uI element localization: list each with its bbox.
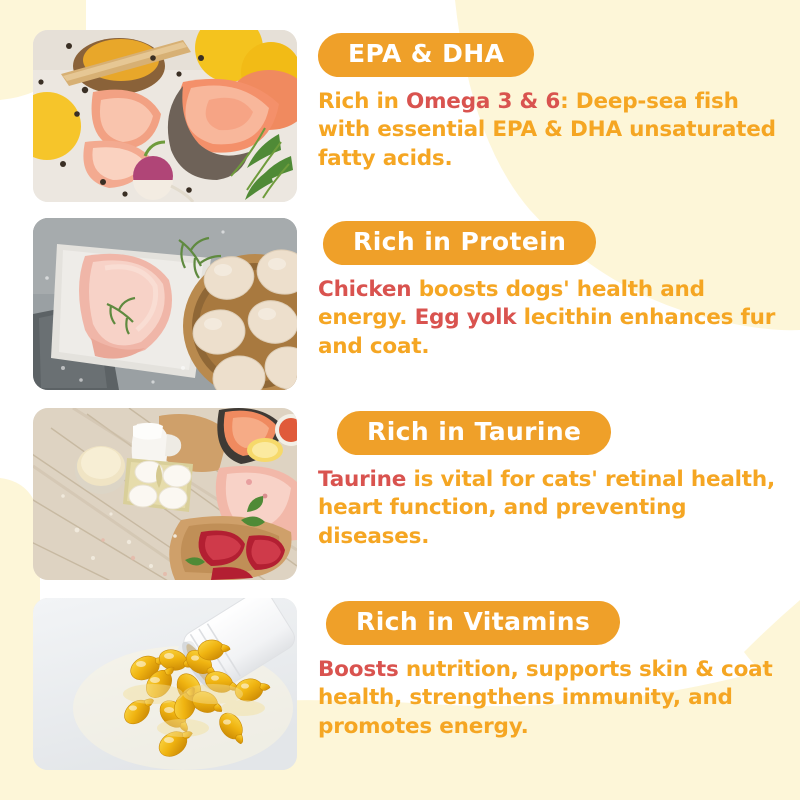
feature-row: Rich in Taurine Taurine is vital for cat…	[0, 408, 800, 580]
protein-spread-photo	[33, 408, 297, 580]
desc-highlight: Omega 3 & 6	[406, 89, 560, 114]
feature-description: Rich in Omega 3 & 6: Deep-sea fish with …	[318, 88, 780, 174]
desc-highlight: Taurine	[318, 467, 406, 492]
feature-description: Taurine is vital for cats' retinal healt…	[318, 466, 780, 552]
feature-text: Rich in Taurine Taurine is vital for cat…	[318, 408, 788, 551]
salmon-steaks-photo	[33, 30, 297, 202]
desc-highlight: Egg yolk	[415, 305, 517, 330]
badge-rich-in-vitamins[interactable]: Rich in Vitamins	[325, 601, 621, 645]
badge-rich-in-taurine[interactable]: Rich in Taurine	[336, 411, 613, 455]
badge-label: EPA & DHA	[348, 40, 504, 68]
feature-row: Rich in Vitamins Boosts nutrition, suppo…	[0, 598, 800, 770]
badge-label: Rich in Protein	[353, 228, 566, 256]
desc-part: Rich in	[318, 89, 406, 114]
fish-oil-capsules-photo	[33, 598, 297, 770]
desc-highlight: Boosts	[318, 657, 399, 682]
feature-row: Rich in Protein Chicken boosts dogs' hea…	[0, 218, 800, 390]
feature-text: Rich in Protein Chicken boosts dogs' hea…	[318, 218, 788, 361]
chicken-breast-eggs-photo	[33, 218, 297, 390]
badge-epa-dha[interactable]: EPA & DHA	[317, 33, 536, 77]
badge-label: Rich in Taurine	[367, 418, 581, 446]
feature-row: EPA & DHA Rich in Omega 3 & 6: Deep-sea …	[0, 30, 800, 202]
badge-label: Rich in Vitamins	[356, 608, 590, 636]
feature-text: Rich in Vitamins Boosts nutrition, suppo…	[318, 598, 788, 741]
feature-text: EPA & DHA Rich in Omega 3 & 6: Deep-sea …	[318, 30, 788, 173]
desc-highlight: Chicken	[318, 277, 411, 302]
feature-description: Boosts nutrition, supports skin & coat h…	[318, 656, 780, 742]
feature-description: Chicken boosts dogs' health and energy. …	[318, 276, 780, 362]
badge-rich-in-protein[interactable]: Rich in Protein	[322, 221, 598, 265]
